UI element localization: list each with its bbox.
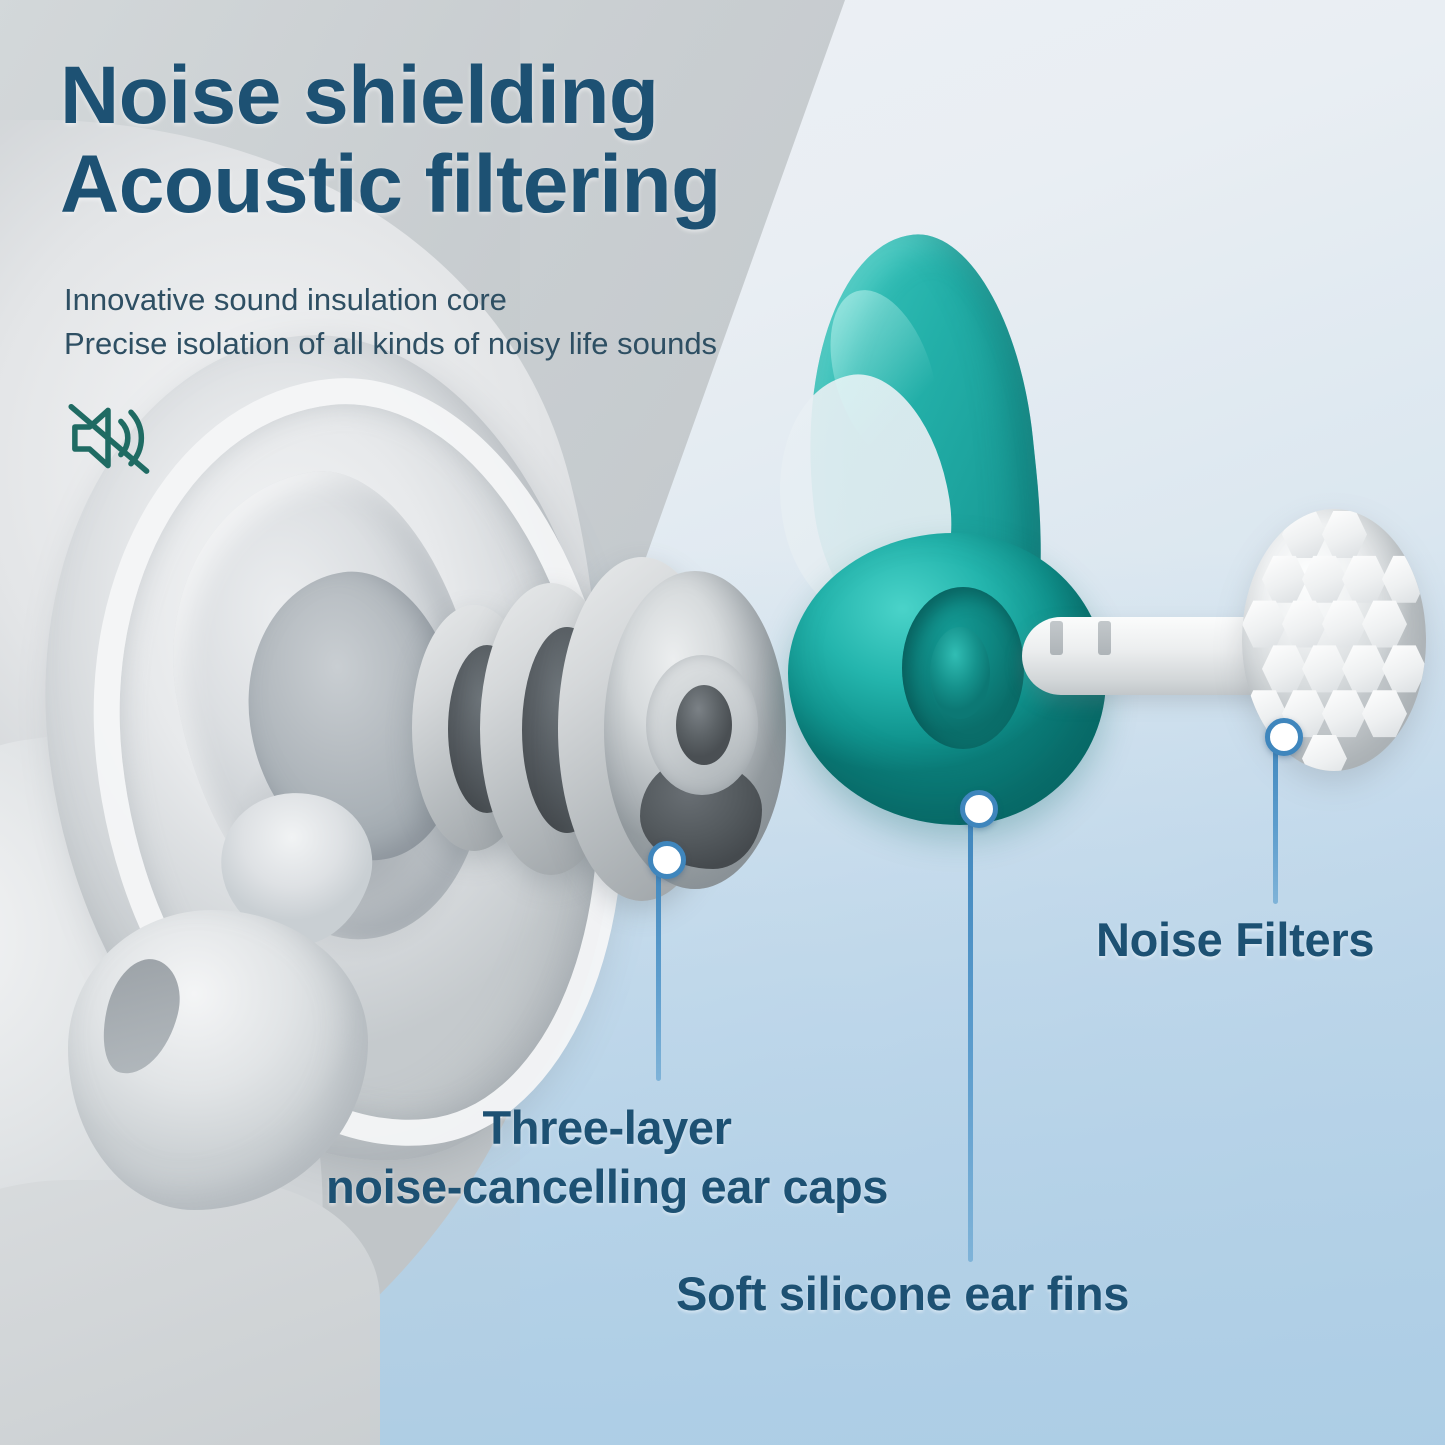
headline-line-2: Acoustic filtering	[60, 141, 940, 230]
noise-filter-hex-facet	[1282, 509, 1327, 560]
headline-line-1: Noise shielding	[60, 50, 659, 141]
noise-filter-hex-facet	[1302, 643, 1347, 694]
neck-shape	[0, 1180, 380, 1445]
mute-speaker-icon	[62, 392, 154, 484]
noise-filter-hex-facet	[1322, 688, 1367, 739]
headline: Noise shielding Acoustic filtering	[60, 52, 940, 229]
noise-filter-notch	[1050, 621, 1063, 655]
subtitle-line-1: Innovative sound insulation core	[64, 278, 884, 322]
ear-fin-core-bore	[930, 627, 990, 719]
label-noise-filters: Noise Filters	[1096, 912, 1374, 967]
callout-leader-noise-filters	[1273, 734, 1278, 904]
noise-filter-notch	[1098, 621, 1111, 655]
noise-filter-hex-facet	[1322, 599, 1367, 650]
subtitle: Innovative sound insulation core Precise…	[64, 278, 884, 366]
component-three-layer-ear-cap	[408, 545, 838, 915]
callout-leader-ear-fins	[968, 806, 973, 1262]
noise-filter-hex-facet	[1302, 554, 1347, 605]
noise-filter-hex-facet	[1342, 643, 1387, 694]
noise-filter-hex-facet	[1382, 643, 1426, 694]
noise-filter-hex-facet	[1382, 554, 1426, 605]
noise-filter-hex-facet	[1242, 599, 1287, 650]
callout-pin-ear-fins[interactable]	[960, 790, 998, 828]
label-ear-caps-line-1: Three-layer	[282, 1098, 932, 1157]
callout-pin-ear-caps[interactable]	[648, 841, 686, 879]
component-noise-filter	[1010, 495, 1430, 785]
noise-filter-hex-facet	[1362, 599, 1407, 650]
label-noise-filters-text: Noise Filters	[1096, 913, 1374, 966]
noise-filter-hex-facet	[1342, 554, 1387, 605]
noise-filter-hex-facet	[1302, 733, 1347, 771]
noise-filter-hex-facet	[1282, 599, 1327, 650]
noise-filter-hex-facet	[1262, 643, 1307, 694]
callout-leader-ear-caps	[656, 855, 661, 1081]
ear-cap-sound-bore	[676, 685, 732, 765]
label-ear-fins-text: Soft silicone ear fins	[676, 1267, 1129, 1320]
subtitle-line-2: Precise isolation of all kinds of noisy …	[64, 322, 884, 366]
noise-filter-hex-facet	[1322, 509, 1367, 560]
label-ear-caps-line-2: noise-cancelling ear caps	[326, 1160, 888, 1213]
infographic-canvas: Noise shielding Acoustic filtering Innov…	[0, 0, 1445, 1445]
noise-filter-hex-facet	[1262, 554, 1307, 605]
label-ear-fins: Soft silicone ear fins	[676, 1266, 1129, 1321]
callout-pin-noise-filters[interactable]	[1265, 718, 1303, 756]
noise-filter-hex-facet	[1362, 688, 1407, 739]
label-ear-caps: Three-layer noise-cancelling ear caps	[282, 1098, 932, 1216]
